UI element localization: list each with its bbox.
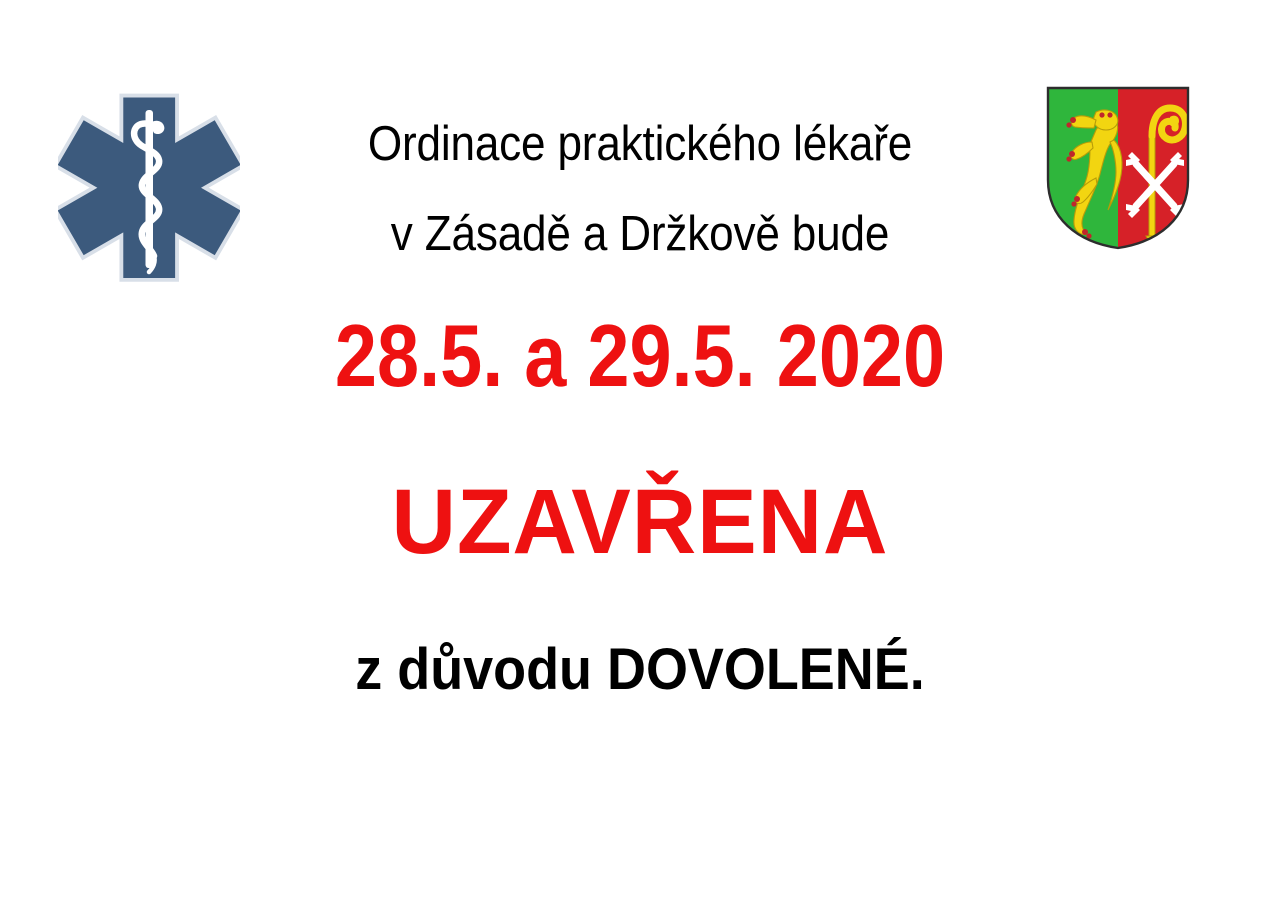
notice-closed-word: UZAVŘENA [19, 466, 1261, 578]
notice-date-line: 28.5. a 29.5. 2020 [90, 302, 1191, 410]
notice-poster: Ordinace praktického lékaře v Zásadě a D… [0, 0, 1280, 905]
notice-reason-line: z důvodu DOVOLENÉ. [45, 634, 1235, 706]
notice-heading-line-2: v Zásadě a Držkově bude [64, 204, 1216, 264]
notice-heading-line-1: Ordinace praktického lékaře [64, 114, 1216, 174]
